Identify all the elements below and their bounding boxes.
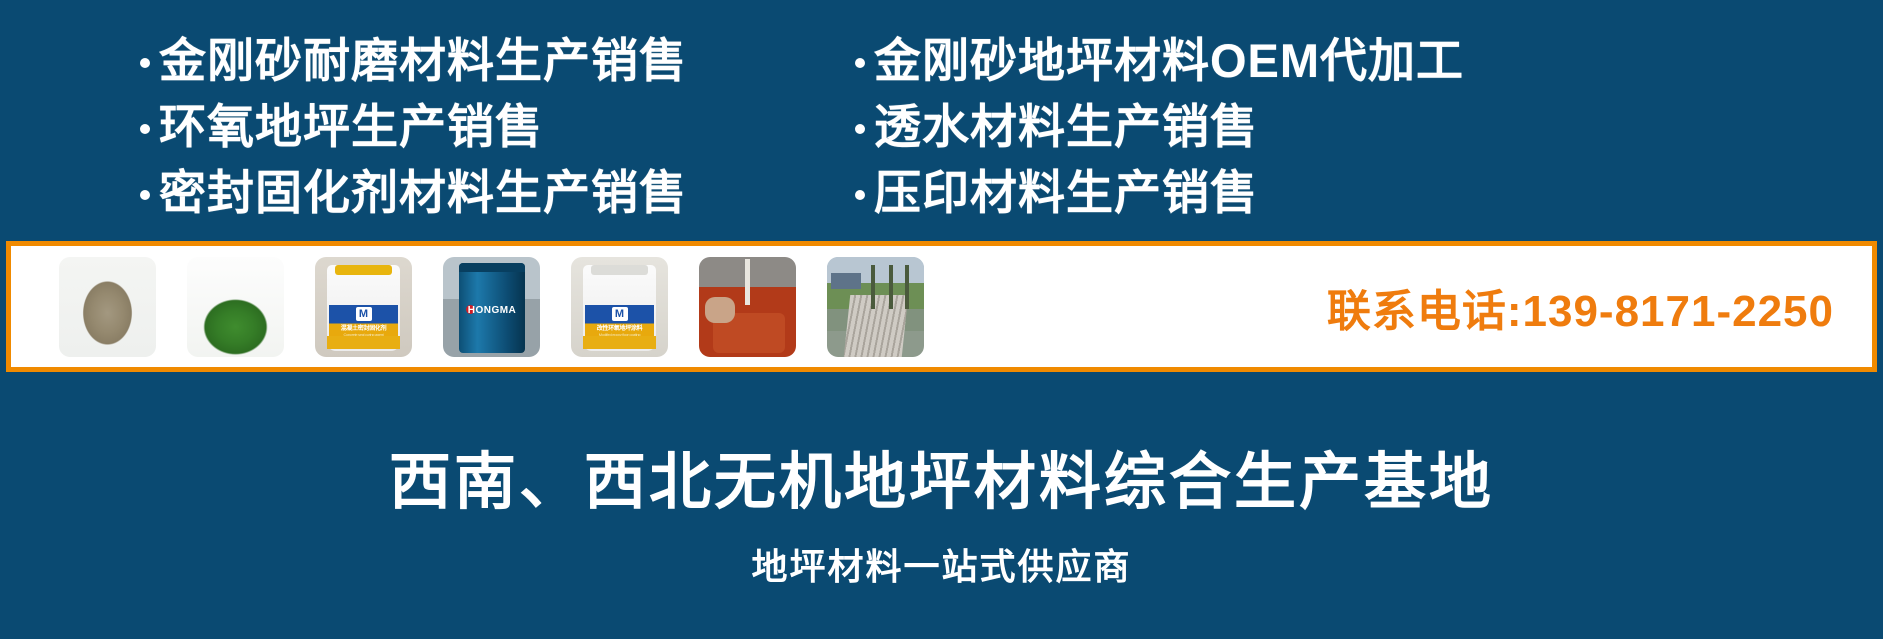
feature-label: 金刚砂耐磨材料生产销售 [159,34,687,88]
feature-lists: 金刚砂耐磨材料生产销售 环氧地坪生产销售 密封固化剂材料生产销售 金刚砂地坪材料… [0,34,1883,234]
building-shape [831,273,861,289]
feature-item: 环氧地坪生产销售 [140,100,740,154]
pail-lid [335,265,392,275]
pail-label: 混凝土密封固化剂 Concrete seal curing agent [327,323,400,337]
feature-label: 透水材料生产销售 [874,100,1258,154]
product-thumbnail: HONGMA [443,257,540,357]
feature-label: 密封固化剂材料生产销售 [159,166,687,220]
bullet-icon [855,58,865,68]
drum-icon: HONGMA [459,263,525,353]
pail-icon: M 混凝土密封固化剂 Concrete seal curing agent [327,265,400,351]
feature-label: 环氧地坪生产销售 [159,100,543,154]
product-thumbnail-list: M 混凝土密封固化剂 Concrete seal curing agent HO… [11,246,924,367]
product-thumbnail [187,257,284,357]
bullet-icon [140,58,150,68]
paver-path-shape [844,295,909,357]
brand-logo-icon: M [356,307,372,321]
feature-column-right: 金刚砂地坪材料OEM代加工 透水材料生产销售 压印材料生产销售 [740,34,1740,234]
product-strip-panel: M 混凝土密封固化剂 Concrete seal curing agent HO… [6,241,1877,372]
hand-shape [705,297,735,323]
feature-item: 压印材料生产销售 [855,166,1740,220]
tree-shape [889,265,893,309]
drum-label: HONGMA [459,305,525,316]
tree-shape [871,265,875,309]
feature-column-left: 金刚砂耐磨材料生产销售 环氧地坪生产销售 密封固化剂材料生产销售 [0,34,740,234]
feature-label: 压印材料生产销售 [874,166,1258,220]
product-thumbnail [827,257,924,357]
pour-stream-shape [745,259,750,305]
bullet-icon [855,190,865,200]
feature-label: 金刚砂地坪材料OEM代加工 [874,34,1464,88]
headline: 西南、西北无机地坪材料综合生产基地 [0,448,1883,518]
feature-item: 透水材料生产销售 [855,100,1740,154]
drum-lid [459,263,525,272]
bullet-icon [855,124,865,134]
pail-icon: M 改性环氧地坪涂料 Modified epoxy floor coating [583,265,656,351]
product-thumbnail: M 改性环氧地坪涂料 Modified epoxy floor coating [571,257,668,357]
feature-item: 金刚砂耐磨材料生产销售 [140,34,740,88]
pail-base [583,336,656,349]
pail-base [327,336,400,349]
bullet-icon [140,124,150,134]
subheadline: 地坪材料一站式供应商 [0,545,1883,589]
product-thumbnail: M 混凝土密封固化剂 Concrete seal curing agent [315,257,412,357]
feature-item: 金刚砂地坪材料OEM代加工 [855,34,1740,88]
pail-lid [591,265,648,275]
tree-shape [905,265,909,309]
feature-item: 密封固化剂材料生产销售 [140,166,740,220]
pail-label: 改性环氧地坪涂料 Modified epoxy floor coating [583,323,656,337]
bullet-icon [140,190,150,200]
product-thumbnail [699,257,796,357]
product-thumbnail [59,257,156,357]
brand-logo-icon: M [612,307,628,321]
contact-phone[interactable]: 联系电话:139-8171-2250 [1327,275,1872,339]
promo-banner: 金刚砂耐磨材料生产销售 环氧地坪生产销售 密封固化剂材料生产销售 金刚砂地坪材料… [0,0,1883,639]
